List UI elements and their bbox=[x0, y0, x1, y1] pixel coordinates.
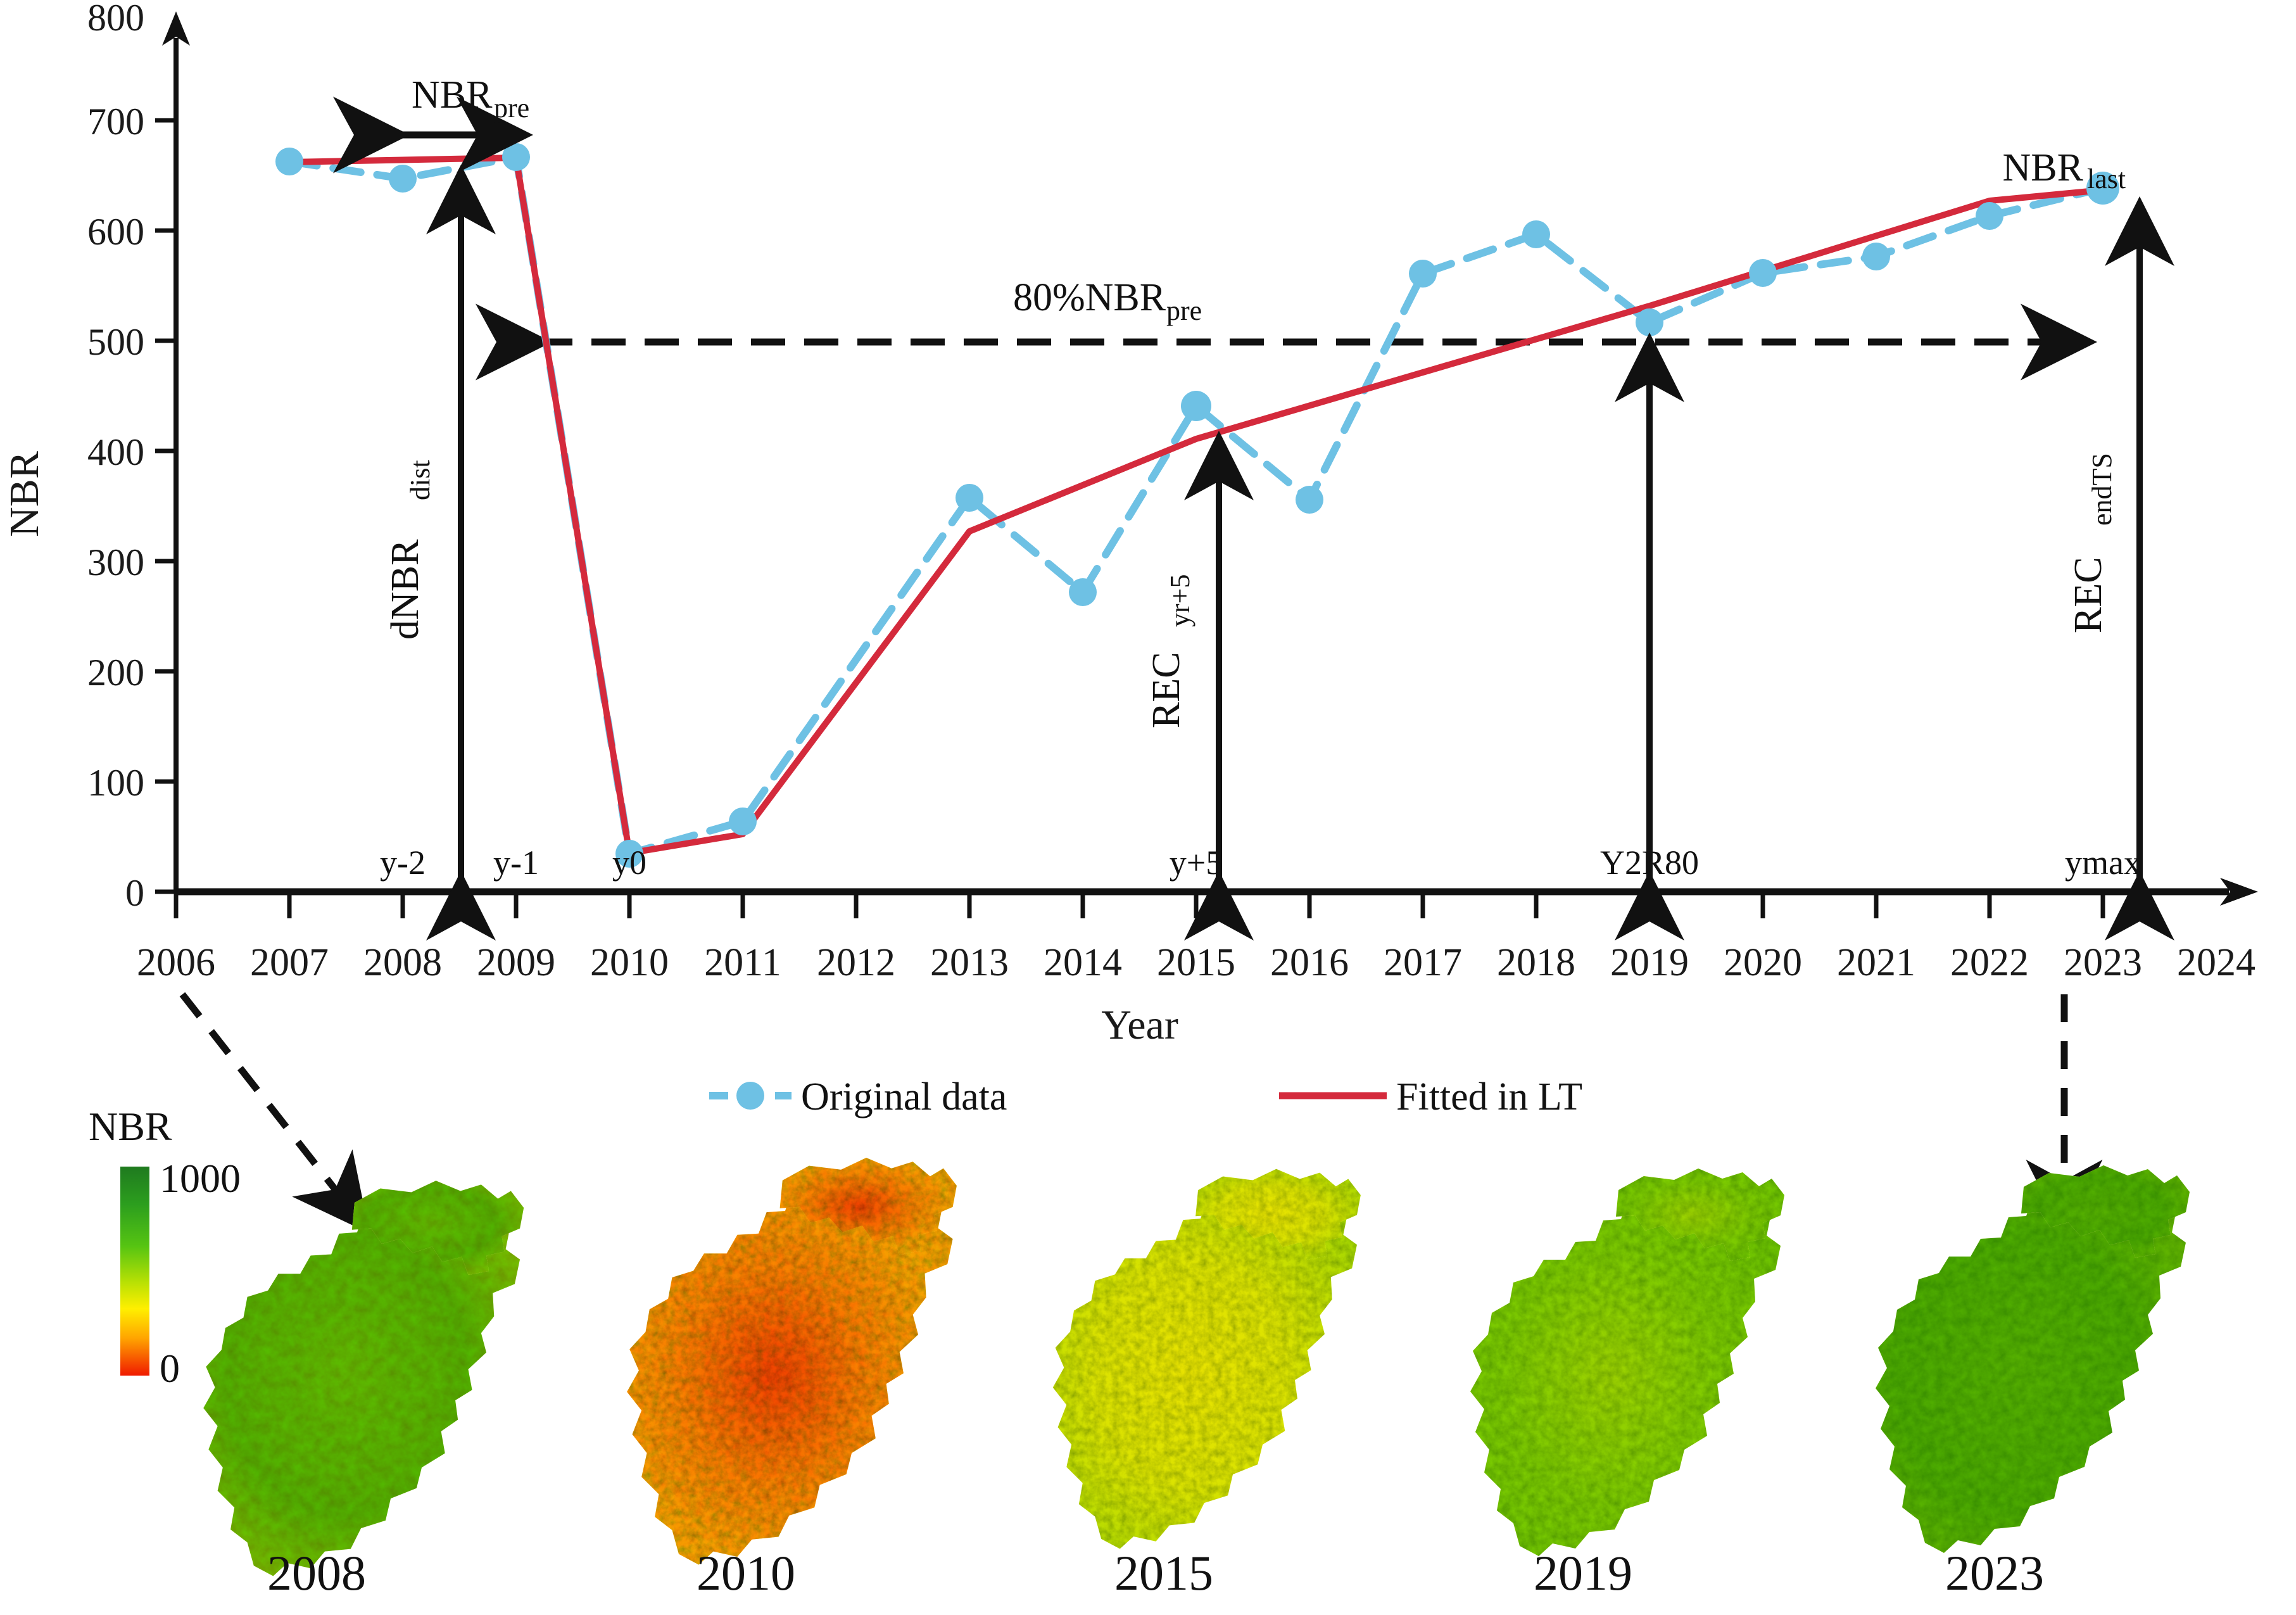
y-tick-0: 0 bbox=[125, 872, 144, 914]
annotation-recyr5-label: REC bbox=[1145, 652, 1188, 728]
map-caption-2008: 2008 bbox=[267, 1545, 366, 1600]
x-tick-2020: 2020 bbox=[1724, 941, 1802, 984]
x-tick-2012: 2012 bbox=[817, 941, 895, 984]
y-tick-700: 700 bbox=[87, 101, 144, 142]
x-tick-2009: 2009 bbox=[477, 941, 555, 984]
axis-event-markers: y-2 y-1 y0 y+5 Y2R80 ymax bbox=[380, 844, 2141, 882]
annotation-recendts-sub: endTS bbox=[2086, 453, 2117, 526]
x-tick-2015: 2015 bbox=[1157, 941, 1235, 984]
y-tick-800: 800 bbox=[87, 0, 144, 39]
series-original-markers bbox=[275, 143, 2119, 868]
y-tick-400: 400 bbox=[87, 431, 144, 473]
x-axis bbox=[176, 878, 2258, 918]
annotation-nbrlast-sub: last bbox=[2087, 163, 2126, 194]
axis-marker-y-2: y-2 bbox=[380, 844, 426, 882]
map-thumbnail-2008 bbox=[203, 1181, 524, 1576]
series-original-data bbox=[289, 157, 2103, 854]
x-tick-2019: 2019 bbox=[1610, 941, 1689, 984]
x-tick-2013: 2013 bbox=[930, 941, 1009, 984]
x-tick-2022: 2022 bbox=[1950, 941, 2029, 984]
annotation-dnbr-dist: dNBR dist bbox=[384, 177, 461, 883]
map-caption-2023: 2023 bbox=[1945, 1545, 2044, 1600]
legend-label-original: Original data bbox=[801, 1075, 1007, 1118]
figure-root: 0 100 200 300 400 500 600 700 800 NBR bbox=[0, 0, 2296, 1615]
map-thumbnail-2015 bbox=[1053, 1169, 1361, 1549]
annotation-80pct-sub: pre bbox=[1166, 295, 1202, 326]
annotation-80pct-label: 80%NBR bbox=[1013, 276, 1166, 319]
annotation-nbrlast-label: NBR bbox=[2003, 146, 2084, 189]
y-tick-labels: 0 100 200 300 400 500 600 700 800 bbox=[87, 0, 144, 914]
y-tick-100: 100 bbox=[87, 762, 144, 804]
map-caption-2010: 2010 bbox=[697, 1545, 795, 1600]
map-thumbnail-2023 bbox=[1876, 1165, 2190, 1553]
map-caption-2015: 2015 bbox=[1114, 1545, 1213, 1600]
legend-marker-dot bbox=[736, 1082, 764, 1110]
axis-marker-ymax: ymax bbox=[2065, 844, 2141, 882]
axis-marker-y0: y0 bbox=[612, 844, 647, 882]
y-tick-300: 300 bbox=[87, 541, 144, 583]
x-tick-2016: 2016 bbox=[1270, 941, 1349, 984]
legend-label-fitted: Fitted in LT bbox=[1396, 1075, 1582, 1118]
colorbar-gradient bbox=[120, 1167, 149, 1376]
colorbar-min-label: 0 bbox=[160, 1346, 180, 1391]
x-tick-2017: 2017 bbox=[1384, 941, 1462, 984]
legend-item-original: Original data bbox=[709, 1075, 1007, 1118]
annotation-dnbrdist-sub: dist bbox=[405, 460, 436, 500]
legend-item-fitted: Fitted in LT bbox=[1279, 1075, 1582, 1118]
map-thumbnail-2010 bbox=[627, 1158, 957, 1565]
x-tick-2014: 2014 bbox=[1044, 941, 1122, 984]
annotation-dnbrdist-label: dNBR bbox=[384, 539, 427, 640]
annotation-nbrpre-label: NBR bbox=[412, 73, 493, 117]
axis-marker-y5: y+5 bbox=[1170, 844, 1223, 882]
x-tick-2023: 2023 bbox=[2064, 941, 2142, 984]
annotation-rec-yr5: REC yr+5 bbox=[1145, 443, 1219, 883]
map-captions: 2008 2010 2015 2019 2023 bbox=[267, 1545, 2044, 1600]
axis-marker-y-1: y-1 bbox=[493, 844, 539, 882]
map-thumbnail-2019 bbox=[1470, 1168, 1784, 1556]
annotation-recyr5-sub: yr+5 bbox=[1164, 574, 1195, 627]
annotation-rec-endts: REC endTS bbox=[2067, 209, 2140, 883]
colorbar-max-label: 1000 bbox=[160, 1156, 241, 1201]
annotation-nbrpre-sub: pre bbox=[494, 92, 529, 123]
y-axis-title: NBR bbox=[1, 451, 47, 537]
x-axis-title: Year bbox=[1101, 1002, 1178, 1048]
annotation-nbr-pre: NBR pre bbox=[396, 73, 529, 135]
x-tick-labels: 2006 2007 2008 2009 2010 2011 2012 2013 … bbox=[137, 941, 2255, 984]
map-caption-2019: 2019 bbox=[1534, 1545, 1632, 1600]
y-axis bbox=[155, 11, 190, 892]
colorbar-title: NBR bbox=[89, 1104, 172, 1149]
y-tick-200: 200 bbox=[87, 652, 144, 693]
x-tick-2006: 2006 bbox=[137, 941, 215, 984]
annotation-recendts-label: REC bbox=[2067, 557, 2110, 633]
chart-legend: Original data Fitted in LT bbox=[709, 1075, 1582, 1118]
nbr-colorbar: NBR 1000 0 bbox=[89, 1104, 241, 1391]
x-tick-2011: 2011 bbox=[704, 941, 781, 984]
x-tick-2024: 2024 bbox=[2177, 941, 2255, 984]
annotation-80pct-nbrpre: 80%NBR pre bbox=[1013, 276, 1202, 326]
nbr-timeseries-chart: 0 100 200 300 400 500 600 700 800 NBR bbox=[0, 0, 2296, 1615]
axis-marker-y2r80: Y2R80 bbox=[1600, 844, 1699, 882]
x-tick-2018: 2018 bbox=[1497, 941, 1575, 984]
x-tick-2007: 2007 bbox=[250, 941, 329, 984]
x-tick-2010: 2010 bbox=[590, 941, 669, 984]
x-tick-2021: 2021 bbox=[1837, 941, 1915, 984]
annotation-nbr-last: NBR last bbox=[2003, 146, 2126, 194]
y-tick-600: 600 bbox=[87, 211, 144, 253]
x-tick-2008: 2008 bbox=[363, 941, 442, 984]
y-tick-500: 500 bbox=[87, 321, 144, 363]
